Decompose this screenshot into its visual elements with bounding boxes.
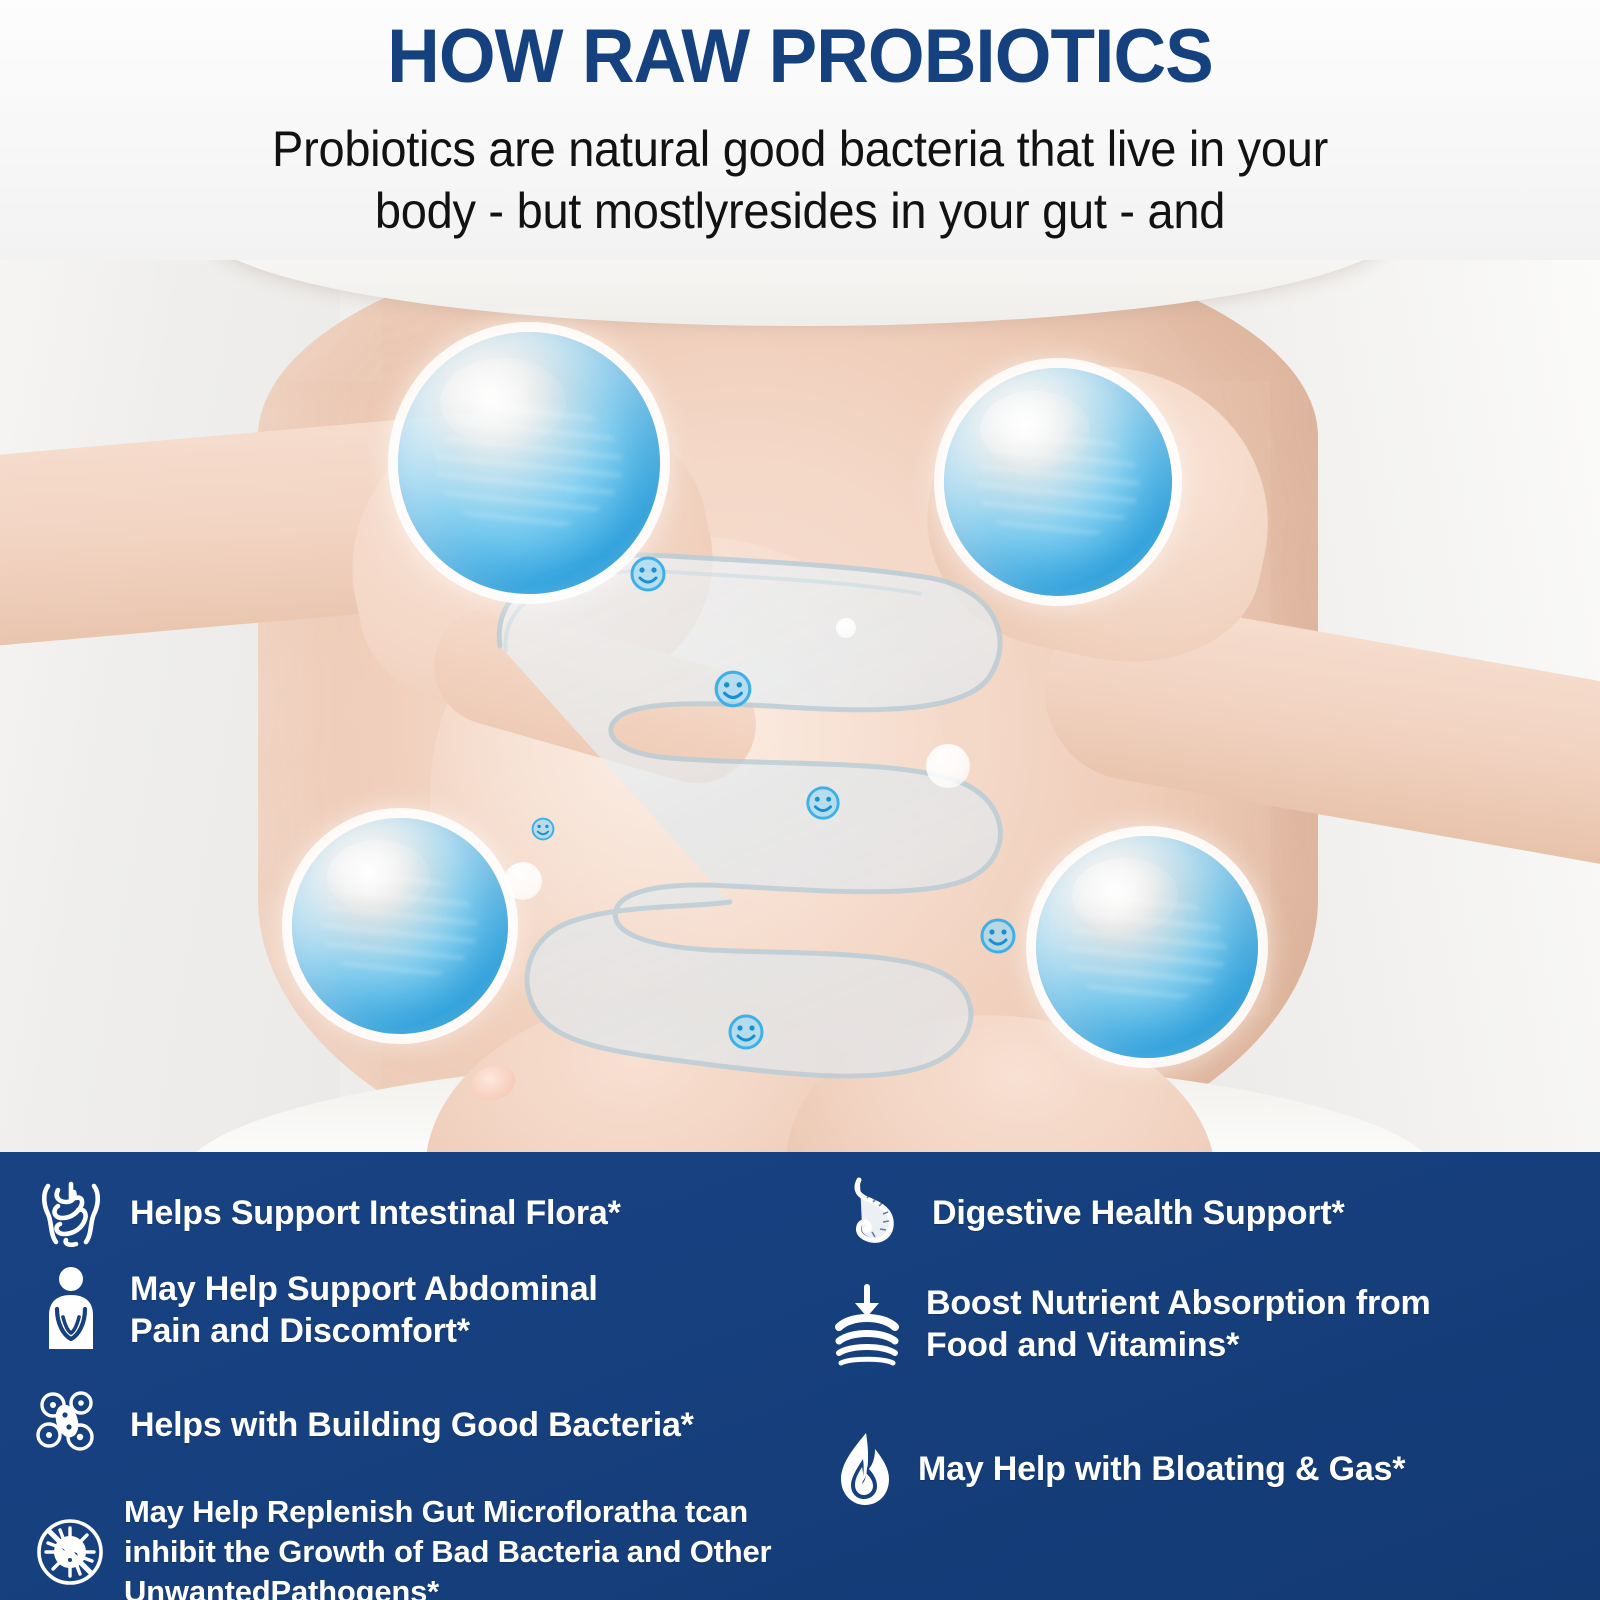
benefit-item-bloating-gas: May Help with Bloating & Gas* xyxy=(832,1428,1405,1510)
subtitle-line-1: Probiotics are natural good bacteria tha… xyxy=(272,121,1328,177)
probiotic-microbe-icon xyxy=(726,1012,766,1052)
probiotic-sphere xyxy=(292,818,508,1034)
white-bubble xyxy=(836,618,856,638)
benefit-item-intestinal-flora: Helps Support Intestinal Flora* xyxy=(34,1174,621,1252)
probiotic-sphere xyxy=(1036,836,1258,1058)
probiotic-microbe-icon xyxy=(804,784,842,822)
white-bubble xyxy=(504,862,542,900)
benefit-item-abdominal-pain: May Help Support Abdominal Pain and Disc… xyxy=(38,1264,598,1356)
probiotic-microbe-icon xyxy=(530,816,556,842)
benefit-label: Helps Support Intestinal Flora* xyxy=(130,1192,621,1234)
benefit-label: Digestive Health Support* xyxy=(932,1192,1345,1234)
intestine-illustration xyxy=(430,526,1050,1086)
flame-drop-icon xyxy=(832,1428,896,1510)
header: HOW RAW PROBIOTICS Probiotics are natura… xyxy=(0,0,1600,260)
benefit-item-good-bacteria: Helps with Building Good Bacteria* xyxy=(34,1388,694,1462)
probiotic-sphere xyxy=(944,368,1172,596)
probiotic-microbe-icon xyxy=(628,554,668,594)
benefit-item-gut-microflora: May Help Replenish Gut Microfloratha tca… xyxy=(34,1492,816,1600)
benefit-label: Boost Nutrient Absorption from Food and … xyxy=(926,1282,1431,1366)
probiotic-microbe-icon xyxy=(978,916,1018,956)
page-title: HOW RAW PROBIOTICS xyxy=(32,14,1568,100)
benefit-label: May Help with Bloating & Gas* xyxy=(918,1448,1405,1490)
benefits-left-column: Helps Support Intestinal Flora* May Help… xyxy=(0,1152,816,1600)
benefit-label: May Help Support Abdominal Pain and Disc… xyxy=(130,1268,598,1352)
benefits-right-column: Digestive Health Support* Boost Nutrient… xyxy=(816,1152,1600,1600)
intestine-icon xyxy=(34,1174,108,1252)
benefit-label: Helps with Building Good Bacteria* xyxy=(130,1404,694,1446)
infographic-page: HOW RAW PROBIOTICS Probiotics are natura… xyxy=(0,0,1600,1600)
benefit-item-digestive-health: Digestive Health Support* xyxy=(838,1174,1345,1252)
no-virus-icon xyxy=(34,1514,106,1590)
hero-photo xyxy=(0,236,1600,1160)
benefit-label: May Help Replenish Gut Microfloratha tca… xyxy=(124,1492,816,1600)
nutrient-absorption-icon xyxy=(832,1280,902,1368)
benefit-item-nutrient-absorption: Boost Nutrient Absorption from Food and … xyxy=(832,1280,1431,1368)
page-subtitle: Probiotics are natural good bacteria tha… xyxy=(48,118,1552,242)
probiotic-microbe-icon xyxy=(712,668,754,710)
abdominal-pain-icon xyxy=(38,1264,104,1356)
probiotic-sphere xyxy=(398,332,660,594)
bacteria-cluster-icon xyxy=(34,1388,106,1462)
white-bubble xyxy=(926,744,970,788)
benefits-panel: Helps Support Intestinal Flora* May Help… xyxy=(0,1152,1600,1600)
stomach-icon xyxy=(838,1174,908,1252)
subtitle-line-2: body - but mostlyresides in your gut - a… xyxy=(48,180,1552,242)
